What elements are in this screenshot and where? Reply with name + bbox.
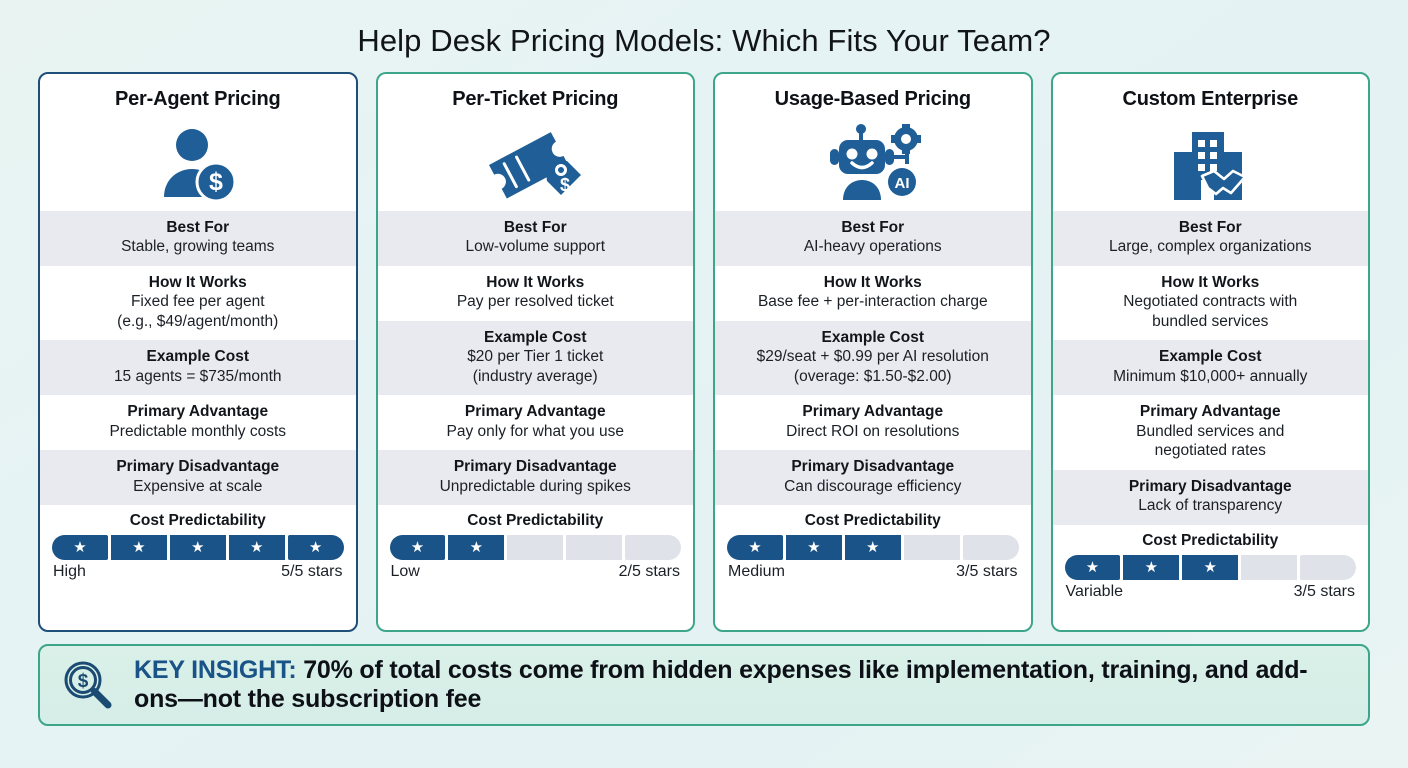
svg-text:AI: AI [894,175,909,192]
star-icon: ★ [866,540,879,555]
primary-advantage-value: Bundled services and [1062,422,1360,442]
card-row-label: Primary Advantage [1062,402,1360,421]
card-row-label: Primary Advantage [724,402,1022,421]
star-icon: ★ [1145,560,1158,575]
best-for-value: AI-heavy operations [724,237,1022,257]
cost-predictability-label: Cost Predictability [1065,532,1357,550]
star-segment: ★ [727,535,783,560]
primary-advantage-value: Pay only for what you use [387,422,685,442]
star-segment: ★ [566,535,622,560]
card-row-label: Primary Advantage [387,402,685,421]
svg-text:$: $ [209,168,223,196]
star-segment: ★ [448,535,504,560]
card-row-label: Best For [49,218,347,237]
rating-footer: High 5/5 stars [52,563,344,581]
pricing-card-1[interactable]: Per-Agent Pricing $ Best ForStable, grow… [38,72,358,632]
card-row-how-it-works: How It WorksNegotiated contracts withbun… [1053,266,1369,340]
predictability-score: 5/5 stars [281,563,342,581]
star-segment: ★ [1241,555,1297,580]
how-it-works-value: Pay per resolved ticket [387,292,685,312]
star-segment: ★ [1065,555,1121,580]
office-building-handshake-icon [1053,121,1369,207]
primary-disadvantage-value: Unpredictable during spikes [387,477,685,497]
cost-predictability-label: Cost Predictability [52,512,344,530]
cost-predictability-label: Cost Predictability [390,512,682,530]
card-row-example-cost: Example Cost$20 per Tier 1 ticket(indust… [378,321,694,395]
card-title: Custom Enterprise [1053,74,1369,121]
example-cost-value: 15 agents = $735/month [49,367,347,387]
person-with-dollar-icon: $ [40,121,356,207]
star-icon: ★ [250,540,263,555]
card-rows: Best ForStable, growing teams How It Wor… [40,211,356,630]
primary-disadvantage-value: Lack of transparency [1062,496,1360,516]
cost-predictability-row: Cost Predictability ★★★★★ Medium 3/5 sta… [715,505,1031,589]
card-row-primary-disadvantage: Primary DisadvantageLack of transparency [1053,470,1369,525]
ai-robot-with-gear-icon: AI [715,121,1031,207]
card-row-primary-advantage: Primary AdvantageBundled services andneg… [1053,395,1369,469]
star-icon: ★ [807,540,820,555]
card-row-best-for: Best ForStable, growing teams [40,211,356,266]
card-row-label: How It Works [724,273,1022,292]
star-icon: ★ [748,540,761,555]
star-segment: ★ [1300,555,1356,580]
card-row-label: Best For [1062,218,1360,237]
star-icon: ★ [132,540,145,555]
star-rating-bar: ★★★★★ [390,535,682,560]
how-it-works-value: Fixed fee per agent [49,292,347,312]
star-segment: ★ [507,535,563,560]
star-icon: ★ [191,540,204,555]
rating-footer: Low 2/5 stars [390,563,682,581]
pricing-card-4[interactable]: Custom Enterprise Best ForLarge, complex… [1051,72,1371,632]
card-row-label: Primary Disadvantage [724,457,1022,476]
star-segment: ★ [963,535,1019,560]
star-icon: ★ [587,540,600,555]
card-row-primary-disadvantage: Primary DisadvantageCan discourage effic… [715,450,1031,505]
card-row-best-for: Best ForLow-volume support [378,211,694,266]
pricing-card-grid: Per-Agent Pricing $ Best ForStable, grow… [0,58,1408,632]
predictability-level: Variable [1066,583,1124,601]
rating-footer: Variable 3/5 stars [1065,583,1357,601]
card-row-primary-advantage: Primary AdvantagePay only for what you u… [378,395,694,450]
best-for-value: Large, complex organizations [1062,237,1360,257]
magnifier-dollar-icon: $ [58,655,118,715]
primary-disadvantage-value: Expensive at scale [49,477,347,497]
star-segment: ★ [786,535,842,560]
pricing-card-3[interactable]: Usage-Based Pricing AI Best ForAI- [713,72,1033,632]
ticket-with-price-tag-icon: $ [378,121,694,207]
card-rows: Best ForLarge, complex organizations How… [1053,211,1369,630]
rating-footer: Medium 3/5 stars [727,563,1019,581]
predictability-score: 3/5 stars [956,563,1017,581]
cost-predictability-label: Cost Predictability [727,512,1019,530]
card-row-label: Best For [387,218,685,237]
star-segment: ★ [52,535,108,560]
star-icon: ★ [1262,560,1275,575]
card-row-primary-disadvantage: Primary DisadvantageUnpredictable during… [378,450,694,505]
card-row-primary-advantage: Primary AdvantagePredictable monthly cos… [40,395,356,450]
star-segment: ★ [904,535,960,560]
card-row-label: How It Works [1062,273,1360,292]
best-for-value: Stable, growing teams [49,237,347,257]
predictability-level: Low [391,563,420,581]
card-row-label: Primary Disadvantage [1062,477,1360,496]
star-icon: ★ [1321,560,1334,575]
predictability-level: Medium [728,563,785,581]
card-row-label: How It Works [387,273,685,292]
star-rating-bar: ★★★★★ [1065,555,1357,580]
star-segment: ★ [1123,555,1179,580]
predictability-level: High [53,563,86,581]
star-segment: ★ [1182,555,1238,580]
how-it-works-value: Negotiated contracts with [1062,292,1360,312]
example-cost-value: (overage: $1.50-$2.00) [724,367,1022,387]
card-title: Per-Ticket Pricing [378,74,694,121]
predictability-score: 3/5 stars [1294,583,1355,601]
card-row-how-it-works: How It WorksPay per resolved ticket [378,266,694,321]
card-row-example-cost: Example Cost15 agents = $735/month [40,340,356,395]
example-cost-value: $20 per Tier 1 ticket [387,347,685,367]
star-segment: ★ [111,535,167,560]
primary-disadvantage-value: Can discourage efficiency [724,477,1022,497]
cost-predictability-row: Cost Predictability ★★★★★ Low 2/5 stars [378,505,694,589]
card-row-label: Primary Disadvantage [387,457,685,476]
primary-advantage-value: negotiated rates [1062,441,1360,461]
card-row-best-for: Best ForAI-heavy operations [715,211,1031,266]
primary-advantage-value: Predictable monthly costs [49,422,347,442]
card-row-label: Primary Disadvantage [49,457,347,476]
star-segment: ★ [288,535,344,560]
example-cost-value: (industry average) [387,367,685,387]
card-row-label: How It Works [49,273,347,292]
card-row-label: Primary Advantage [49,402,347,421]
card-row-example-cost: Example Cost$29/seat + $0.99 per AI reso… [715,321,1031,395]
cost-predictability-row: Cost Predictability ★★★★★ High 5/5 stars [40,505,356,589]
key-insight-text: KEY INSIGHT: 70% of total costs come fro… [134,656,1350,715]
star-icon: ★ [309,540,322,555]
star-rating-bar: ★★★★★ [52,535,344,560]
star-segment: ★ [845,535,901,560]
star-icon: ★ [646,540,659,555]
star-icon: ★ [73,540,86,555]
page-title: Help Desk Pricing Models: Which Fits You… [0,0,1408,58]
star-icon: ★ [925,540,938,555]
key-insight-label: KEY INSIGHT: [134,656,296,684]
card-row-label: Best For [724,218,1022,237]
card-title: Per-Agent Pricing [40,74,356,121]
star-icon: ★ [470,540,483,555]
card-title: Usage-Based Pricing [715,74,1031,121]
star-rating-bar: ★★★★★ [727,535,1019,560]
card-row-best-for: Best ForLarge, complex organizations [1053,211,1369,266]
cost-predictability-row: Cost Predictability ★★★★★ Variable 3/5 s… [1053,525,1369,609]
card-row-primary-disadvantage: Primary DisadvantageExpensive at scale [40,450,356,505]
example-cost-value: Minimum $10,000+ annually [1062,367,1360,387]
card-row-label: Example Cost [724,328,1022,347]
star-segment: ★ [170,535,226,560]
predictability-score: 2/5 stars [619,563,680,581]
star-icon: ★ [1086,560,1099,575]
star-icon: ★ [529,540,542,555]
card-rows: Best ForAI-heavy operations How It Works… [715,211,1031,630]
best-for-value: Low-volume support [387,237,685,257]
card-rows: Best ForLow-volume support How It WorksP… [378,211,694,630]
how-it-works-value: (e.g., $49/agent/month) [49,312,347,332]
star-segment: ★ [229,535,285,560]
how-it-works-value: Base fee + per-interaction charge [724,292,1022,312]
card-row-label: Example Cost [387,328,685,347]
star-icon: ★ [1204,560,1217,575]
primary-advantage-value: Direct ROI on resolutions [724,422,1022,442]
card-row-example-cost: Example CostMinimum $10,000+ annually [1053,340,1369,395]
card-row-how-it-works: How It WorksBase fee + per-interaction c… [715,266,1031,321]
star-icon: ★ [984,540,997,555]
key-insight-body: 70% of total costs come from hidden expe… [134,656,1307,714]
star-segment: ★ [390,535,446,560]
card-row-primary-advantage: Primary AdvantageDirect ROI on resolutio… [715,395,1031,450]
key-insight-banner: $ KEY INSIGHT: 70% of total costs come f… [38,644,1370,726]
card-row-label: Example Cost [1062,347,1360,366]
pricing-card-2[interactable]: Per-Ticket Pricing $ Best ForLow-volume … [376,72,696,632]
svg-text:$: $ [78,671,89,692]
star-segment: ★ [625,535,681,560]
how-it-works-value: bundled services [1062,312,1360,332]
example-cost-value: $29/seat + $0.99 per AI resolution [724,347,1022,367]
card-row-label: Example Cost [49,347,347,366]
star-icon: ★ [411,540,424,555]
card-row-how-it-works: How It WorksFixed fee per agent(e.g., $4… [40,266,356,340]
svg-text:$: $ [560,175,570,195]
